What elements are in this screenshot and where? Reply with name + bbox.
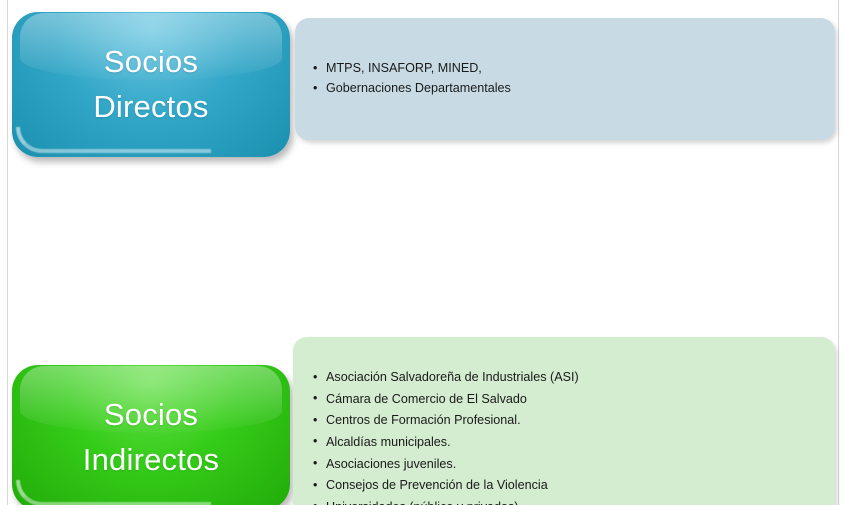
list-item: Gobernaciones Departamentales [313,78,835,98]
list-item: Universidades (pública y privadas) [313,497,835,505]
list-item: Consejos de Prevención de la Violencia [313,475,835,497]
list-item: Cámara de Comercio de El Salvado [313,389,835,411]
pill-label-line-2: Directos [93,85,208,129]
list-item: Asociación Salvadoreña de Industriales (… [313,367,835,389]
pill-label-line-1: Socios [104,40,198,84]
row-socios-directos: Socios Directos MTPS, INSAFORP, MINED, G… [0,0,845,170]
list-item: Asociaciones juveniles. [313,454,835,476]
bullet-list-socios-indirectos: Asociación Salvadoreña de Industriales (… [293,337,835,505]
list-item: Alcaldías municipales. [313,432,835,454]
pill-label-line-2: Indirectos [83,438,219,482]
list-item: Centros de Formación Profesional. [313,410,835,432]
list-item: MTPS, INSAFORP, MINED, [313,58,835,78]
bullet-list-socios-directos: MTPS, INSAFORP, MINED, Gobernaciones Dep… [295,18,835,99]
slide-canvas: Socios Directos MTPS, INSAFORP, MINED, G… [0,0,845,505]
content-panel-socios-indirectos: Asociación Salvadoreña de Industriales (… [293,337,835,505]
content-panel-socios-directos: MTPS, INSAFORP, MINED, Gobernaciones Dep… [295,18,835,140]
pill-label-line-1: Socios [104,393,198,437]
row-socios-indirectos: Socios Indirectos Asociación Salvadoreña… [0,165,845,375]
label-pill-socios-directos[interactable]: Socios Directos [12,12,290,157]
